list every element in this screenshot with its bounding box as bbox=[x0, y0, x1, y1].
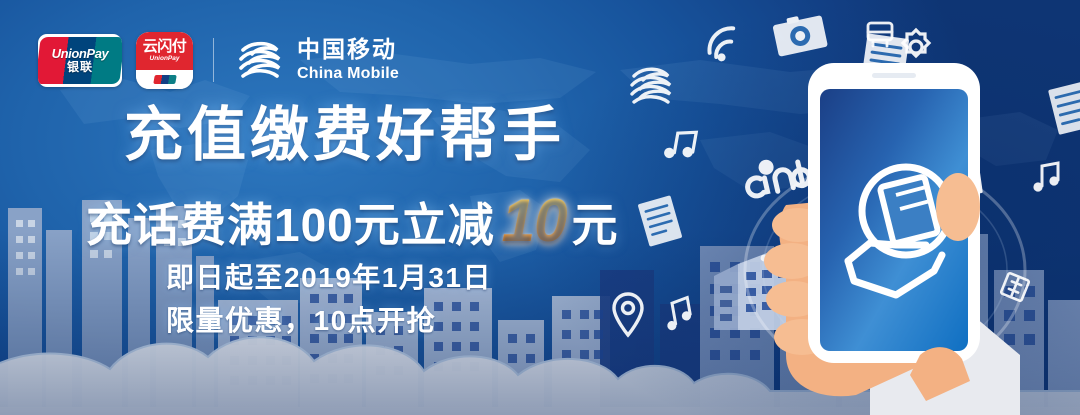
unionpay-text: UnionPay 银联 bbox=[38, 34, 122, 87]
location-pin-icon bbox=[608, 290, 648, 338]
offer-suffix: 元 bbox=[572, 202, 619, 248]
bus-icon bbox=[862, 20, 898, 50]
quickpass-bottom bbox=[136, 70, 193, 89]
camera-icon bbox=[772, 14, 828, 56]
smartphone bbox=[808, 63, 980, 363]
wifi-icon bbox=[700, 18, 746, 60]
hand-holding-phone-illustration bbox=[720, 55, 1080, 415]
quickpass-label-en: UnionPay bbox=[150, 56, 180, 63]
china-mobile-text: 中国移动 China Mobile bbox=[297, 38, 399, 82]
money-card bbox=[880, 176, 939, 243]
document-icon bbox=[638, 196, 682, 246]
newspaper-icon bbox=[1048, 82, 1080, 134]
quickpass-label-cn: 云闪付 bbox=[143, 39, 187, 54]
quickpass-top: 云闪付 UnionPay bbox=[136, 32, 193, 70]
signal-tower-icon bbox=[888, 126, 934, 182]
music-note-icon bbox=[662, 126, 702, 162]
decorative-ring bbox=[735, 145, 1035, 395]
music-note-icon bbox=[662, 296, 698, 332]
signal-bars-icon bbox=[926, 150, 992, 198]
promo-banner: UnionPay 银联 云闪付 UnionPay bbox=[0, 0, 1080, 415]
logo-bar: UnionPay 银联 云闪付 UnionPay bbox=[38, 31, 399, 89]
newspaper-icon bbox=[858, 32, 912, 90]
promo-limit: 限量优惠，10点开抢 bbox=[166, 307, 436, 335]
quickpass-logo: 云闪付 UnionPay bbox=[136, 32, 193, 89]
floating-icons-cluster bbox=[600, 0, 1080, 330]
offer-amount: 10 bbox=[502, 191, 567, 251]
unionpay-logo: UnionPay 银联 bbox=[38, 34, 122, 87]
hand-holding-money-icon bbox=[848, 167, 950, 295]
sleeve bbox=[870, 301, 1020, 415]
music-note-icon bbox=[1030, 160, 1066, 194]
offer-line: 充话费满100元立减 10 元 bbox=[86, 191, 619, 251]
cloud-shape bbox=[0, 295, 1080, 415]
quickpass-chip-icon bbox=[153, 75, 177, 84]
china-mobile-mark-icon bbox=[624, 58, 678, 112]
and-he-logo bbox=[740, 146, 858, 198]
china-mobile-logo: 中国移动 China Mobile bbox=[234, 34, 399, 86]
china-mobile-name-cn: 中国移动 bbox=[297, 38, 399, 61]
unionpay-label-cn: 银联 bbox=[67, 61, 93, 73]
promo-period: 即日起至2019年1月31日 bbox=[166, 264, 492, 292]
fingers bbox=[764, 208, 830, 355]
china-mobile-name-en: China Mobile bbox=[297, 66, 399, 82]
gear-icon bbox=[896, 26, 936, 66]
headline-main: 充值缴费好帮手 bbox=[124, 106, 565, 165]
hand bbox=[779, 158, 961, 396]
unionpay-label-en: UnionPay bbox=[52, 47, 109, 60]
logo-divider bbox=[213, 38, 214, 82]
offer-prefix: 充话费满100元立减 bbox=[86, 202, 495, 248]
china-mobile-mark-icon bbox=[234, 34, 286, 86]
bank-icon bbox=[998, 270, 1032, 304]
office-building-icon bbox=[708, 236, 828, 332]
